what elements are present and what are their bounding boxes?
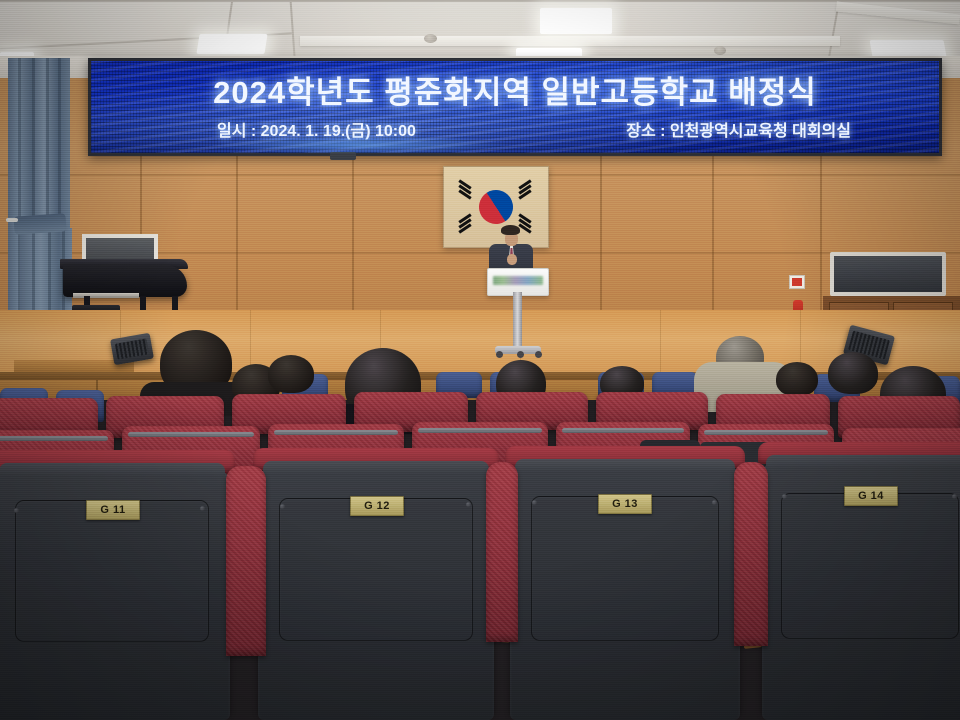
piano-keyboard <box>73 293 139 298</box>
audience-head <box>268 355 314 393</box>
banner-place: 장소 : 인천광역시교육청 대회의실 <box>626 117 851 141</box>
banner-title: 2024학년도 평준화지역 일반고등학교 배정식 <box>91 67 939 112</box>
seat-plate-g14: G 14 <box>844 486 898 506</box>
seat-g14: G 14 <box>762 462 960 720</box>
seat-plate-g11: G 11 <box>86 500 140 520</box>
fire-extinguisher-sign-icon <box>789 275 805 289</box>
ceiling-light-panel <box>540 8 612 34</box>
control-booth-window <box>830 252 946 296</box>
wall-speaker <box>330 152 356 160</box>
audience-head <box>828 352 878 394</box>
auditorium-photo: 2024학년도 평준화지역 일반고등학교 배정식 일시 : 2024. 1. 1… <box>0 0 960 720</box>
seat-armrest <box>734 462 768 646</box>
seat-g12: G 12 <box>258 468 494 720</box>
seat-plate-g12: G 12 <box>350 496 404 516</box>
seat-g11: G 11 <box>0 470 230 720</box>
curtain-hook <box>6 218 18 222</box>
downlight-icon <box>424 34 437 43</box>
taeguk-symbol <box>472 183 519 230</box>
korean-flag <box>443 166 549 248</box>
ceiling-light-panel <box>196 34 267 54</box>
presenter-hand <box>507 254 517 265</box>
seat-armrest <box>486 462 518 642</box>
podium-emblem-icon <box>493 276 543 285</box>
seat-armrest <box>226 466 266 656</box>
podium-column <box>513 292 522 350</box>
seat-plate-g13: G 13 <box>598 494 652 514</box>
presenter-hair <box>501 225 520 235</box>
audience-head <box>776 362 818 396</box>
led-banner-screen: 2024학년도 평준화지역 일반고등학교 배정식 일시 : 2024. 1. 1… <box>88 58 942 156</box>
curtain-tieback <box>13 213 66 235</box>
downlight-icon <box>714 46 726 55</box>
seat-g13: G 13 <box>510 466 740 720</box>
